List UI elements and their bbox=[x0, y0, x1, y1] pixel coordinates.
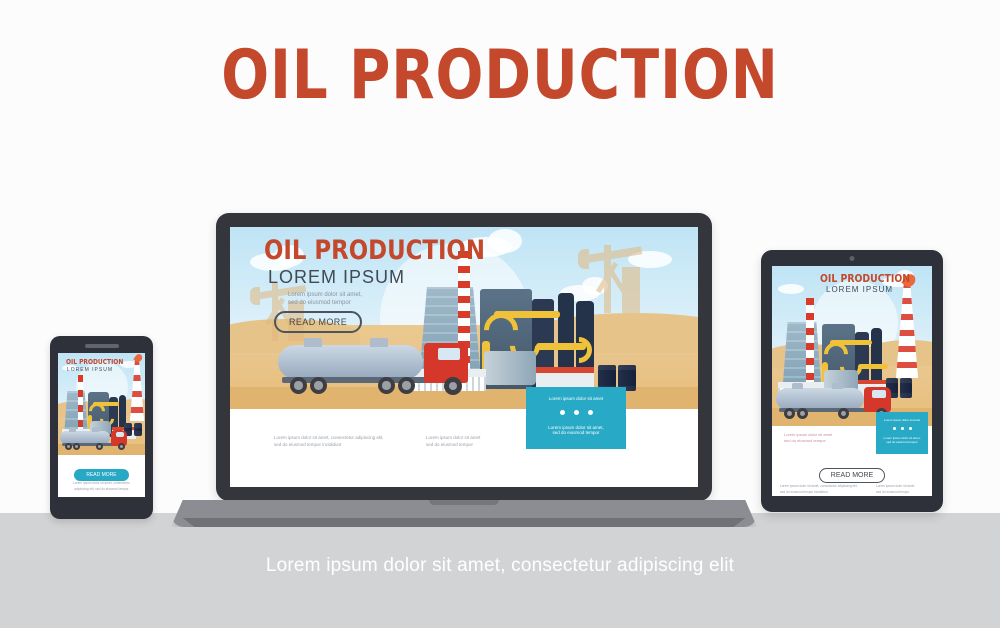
oil-barrel bbox=[134, 423, 142, 436]
panel-top-text: Lorem ipsum dolor sit amet bbox=[526, 387, 626, 401]
truck-wheel bbox=[398, 377, 415, 394]
panel-dots bbox=[876, 427, 928, 430]
yellow-pipe bbox=[858, 364, 888, 369]
tablet-subhead: LOREM IPSUM bbox=[826, 285, 893, 294]
tablet-footer-col2-line1: Lorem ipsum dolor sit amet bbox=[876, 484, 914, 489]
phone-headline: OIL PRODUCTION bbox=[66, 358, 123, 366]
tank-hatch bbox=[69, 427, 76, 432]
camera-icon bbox=[850, 256, 855, 261]
mockup-stage: OIL PRODUCTION bbox=[0, 0, 1000, 628]
laptop-hero-illustration: OIL PRODUCTION LOREM IPSUM Lorem ipsum d… bbox=[230, 227, 698, 409]
horizontal-tank bbox=[484, 351, 536, 385]
tanker-truck bbox=[278, 337, 478, 401]
truck-wheel bbox=[444, 377, 462, 395]
laptop-footer-col1-line1: Lorem ipsum dolor sit amet, consectetur … bbox=[274, 435, 384, 442]
tablet-read-more-button[interactable]: READ MORE bbox=[819, 468, 885, 483]
tanker-truck bbox=[60, 427, 130, 453]
phone-hero-illustration: OIL PRODUCTION LOREM IPSUM bbox=[58, 353, 145, 455]
tablet-headline: OIL PRODUCTION bbox=[820, 272, 910, 285]
laptop-screen[interactable]: OIL PRODUCTION LOREM IPSUM Lorem ipsum d… bbox=[230, 227, 698, 487]
truck-wheel bbox=[310, 377, 327, 394]
truck-wheel bbox=[378, 377, 395, 394]
laptop-headline: OIL PRODUCTION bbox=[264, 235, 485, 266]
tablet-footer-col1-line2: sed do eiusmod tempor incididunt bbox=[780, 490, 828, 495]
yellow-pipe bbox=[830, 340, 872, 345]
tablet-footer-col2-line2: sed do eiusmod tempor bbox=[876, 490, 909, 495]
laptop-subhead: LOREM IPSUM bbox=[268, 267, 405, 288]
tablet-footer-col1-line1: Lorem ipsum dolor sit amet, consectetur … bbox=[780, 484, 858, 489]
dot-icon bbox=[574, 410, 579, 415]
cloud-icon bbox=[488, 229, 522, 253]
phone-subhead: LOREM IPSUM bbox=[67, 367, 113, 373]
tank-hatch bbox=[792, 383, 803, 389]
plant-building-accent bbox=[536, 367, 594, 373]
truck-window bbox=[872, 390, 886, 398]
laptop-base-lip bbox=[171, 518, 757, 527]
laptop-footer-col1-line2: sed do eiusmod tempor incididunt bbox=[274, 442, 341, 449]
bottom-caption: Lorem ipsum dolor sit amet, consectetur … bbox=[0, 555, 1000, 577]
tank-hatch bbox=[832, 383, 843, 389]
tablet-screen[interactable]: OIL PRODUCTION LOREM IPSUM Lorem ipsum d… bbox=[772, 266, 932, 496]
truck-wheel bbox=[65, 443, 72, 450]
drilling-derrick bbox=[130, 359, 144, 421]
dot-icon bbox=[909, 427, 912, 430]
truck-wheel bbox=[797, 408, 808, 419]
panel-body-line2: sed do eiusmod tempor bbox=[876, 440, 928, 444]
truck-wheel bbox=[838, 408, 849, 419]
dot-icon bbox=[560, 410, 565, 415]
tablet-info-panel[interactable]: Lorem ipsum dolor sit amet Lorem ipsum d… bbox=[876, 412, 928, 454]
yellow-pipe bbox=[494, 311, 560, 318]
page-title: OIL PRODUCTION bbox=[40, 36, 960, 115]
truck-wheel bbox=[784, 408, 795, 419]
panel-top-text: Lorem ipsum dolor sit amet bbox=[876, 412, 928, 422]
truck-window bbox=[116, 432, 124, 437]
truck-wheel bbox=[73, 443, 80, 450]
dot-icon bbox=[588, 410, 593, 415]
laptop-read-more-button[interactable]: READ MORE bbox=[274, 311, 362, 333]
tablet-hero-illustration: OIL PRODUCTION LOREM IPSUM bbox=[772, 266, 932, 426]
yellow-pipe bbox=[93, 402, 119, 406]
speaker-icon bbox=[85, 344, 119, 348]
truck-wheel bbox=[290, 377, 307, 394]
tablet-side-text-line2: sed do eiusmod tempor bbox=[784, 438, 826, 444]
dot-icon bbox=[901, 427, 904, 430]
laptop-trackpad-notch bbox=[429, 500, 499, 505]
panel-dots bbox=[526, 410, 626, 415]
panel-body-line2: sed do eiusmod tempor bbox=[526, 430, 626, 435]
dot-icon bbox=[893, 427, 896, 430]
laptop-device[interactable]: OIL PRODUCTION LOREM IPSUM Lorem ipsum d… bbox=[216, 213, 712, 501]
truck-window bbox=[438, 348, 460, 360]
phone-device[interactable]: OIL PRODUCTION LOREM IPSUM READ MORE Lor… bbox=[50, 336, 153, 519]
phone-screen[interactable]: OIL PRODUCTION LOREM IPSUM READ MORE Lor… bbox=[58, 353, 145, 497]
oil-barrel bbox=[900, 378, 912, 398]
laptop-footer-col2-line2: sed do eiusmod tempor bbox=[426, 442, 473, 449]
phone-footer-line2: adipiscing elit, sed do eiusmod tempor bbox=[58, 487, 145, 492]
tank-hatch bbox=[370, 338, 388, 347]
truck-tank bbox=[278, 345, 423, 379]
phone-footer-line1: Lorem ipsum dolor sit amet, consectetur bbox=[58, 481, 145, 486]
laptop-footer-col2-line1: Lorem ipsum dolor sit amet bbox=[426, 435, 480, 442]
cloud-icon bbox=[778, 284, 804, 294]
laptop-info-panel[interactable]: Lorem ipsum dolor sit amet Lorem ipsum d… bbox=[526, 387, 626, 449]
truck-wheel bbox=[118, 443, 125, 450]
laptop-blurb-line2: sed do eiusmod tempor bbox=[288, 299, 351, 308]
tank-hatch bbox=[304, 338, 322, 347]
phone-read-more-button[interactable]: READ MORE bbox=[74, 469, 128, 481]
drilling-derrick bbox=[896, 282, 918, 378]
tablet-device[interactable]: OIL PRODUCTION LOREM IPSUM Lorem ipsum d… bbox=[761, 250, 943, 512]
tank-hatch bbox=[92, 427, 99, 432]
truck-wheel bbox=[96, 443, 103, 450]
truck-tank bbox=[776, 388, 864, 410]
